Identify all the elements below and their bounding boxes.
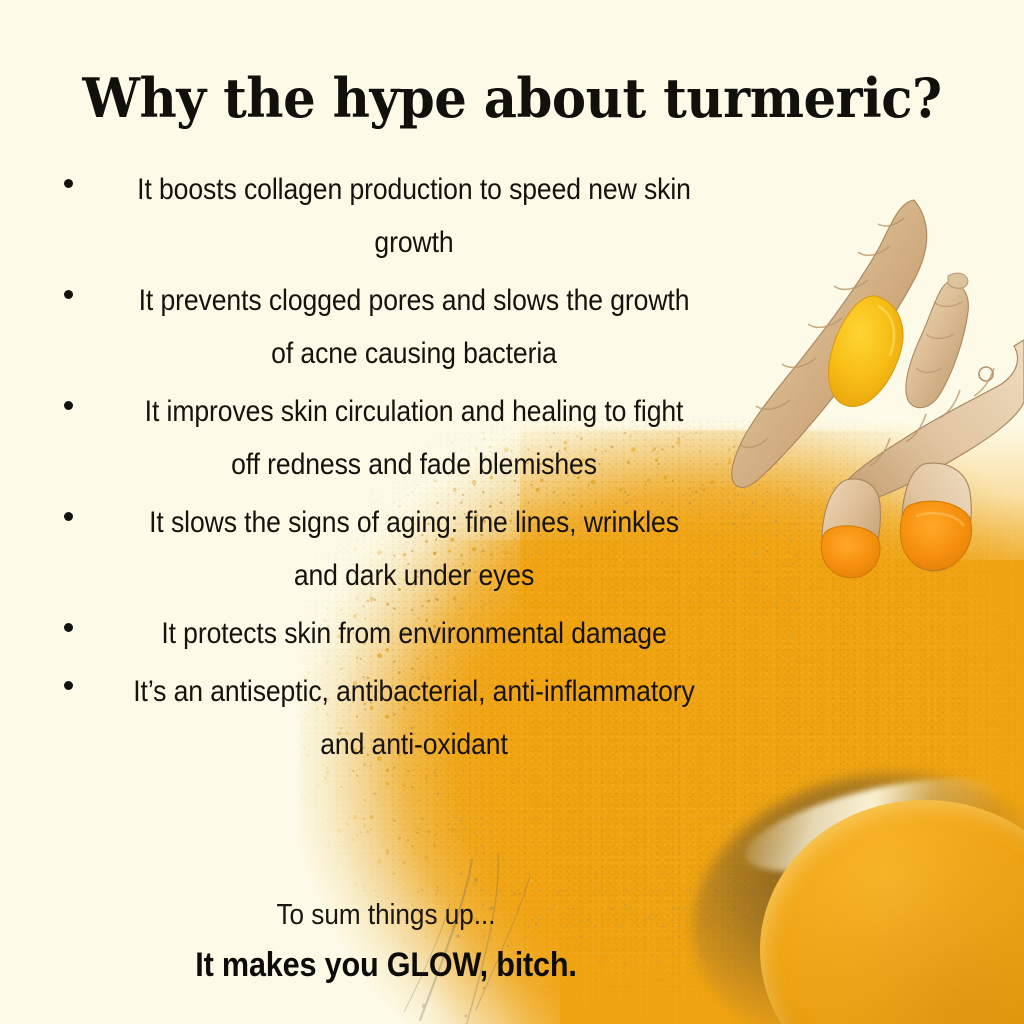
- bullet-dot-icon: [64, 512, 73, 521]
- list-item-label: It improves skin circulation and healing…: [131, 385, 696, 491]
- bullet-dot-icon: [64, 623, 73, 632]
- list-item: It’s an antiseptic, antibacterial, anti-…: [36, 665, 736, 771]
- list-item: It protects skin from environmental dama…: [36, 607, 736, 660]
- list-item: It improves skin circulation and healing…: [36, 385, 736, 491]
- summary-lead: To sum things up...: [71, 892, 701, 939]
- list-item: It slows the signs of aging: fine lines,…: [36, 496, 736, 602]
- turmeric-infographic-poster: Why the hype about turmeric? It boosts c…: [0, 0, 1024, 1024]
- page-title: Why the hype about turmeric?: [26, 66, 999, 130]
- summary-block: To sum things up... It makes you GLOW, b…: [36, 892, 736, 991]
- list-item-label: It’s an antiseptic, antibacterial, anti-…: [131, 665, 696, 771]
- summary-punchline: It makes you GLOW, bitch.: [71, 939, 701, 991]
- bullet-dot-icon: [64, 290, 73, 299]
- list-item-label: It boosts collagen production to speed n…: [131, 163, 696, 269]
- list-item-label: It prevents clogged pores and slows the …: [131, 274, 696, 380]
- list-item: It boosts collagen production to speed n…: [36, 163, 736, 269]
- bullet-dot-icon: [64, 179, 73, 188]
- list-item: It prevents clogged pores and slows the …: [36, 274, 736, 380]
- list-item-label: It slows the signs of aging: fine lines,…: [131, 496, 696, 602]
- bullet-dot-icon: [64, 681, 73, 690]
- bullet-dot-icon: [64, 401, 73, 410]
- content-layer: Why the hype about turmeric? It boosts c…: [0, 0, 1024, 1024]
- list-item-label: It protects skin from environmental dama…: [131, 607, 696, 660]
- benefits-list: It boosts collagen production to speed n…: [36, 163, 736, 776]
